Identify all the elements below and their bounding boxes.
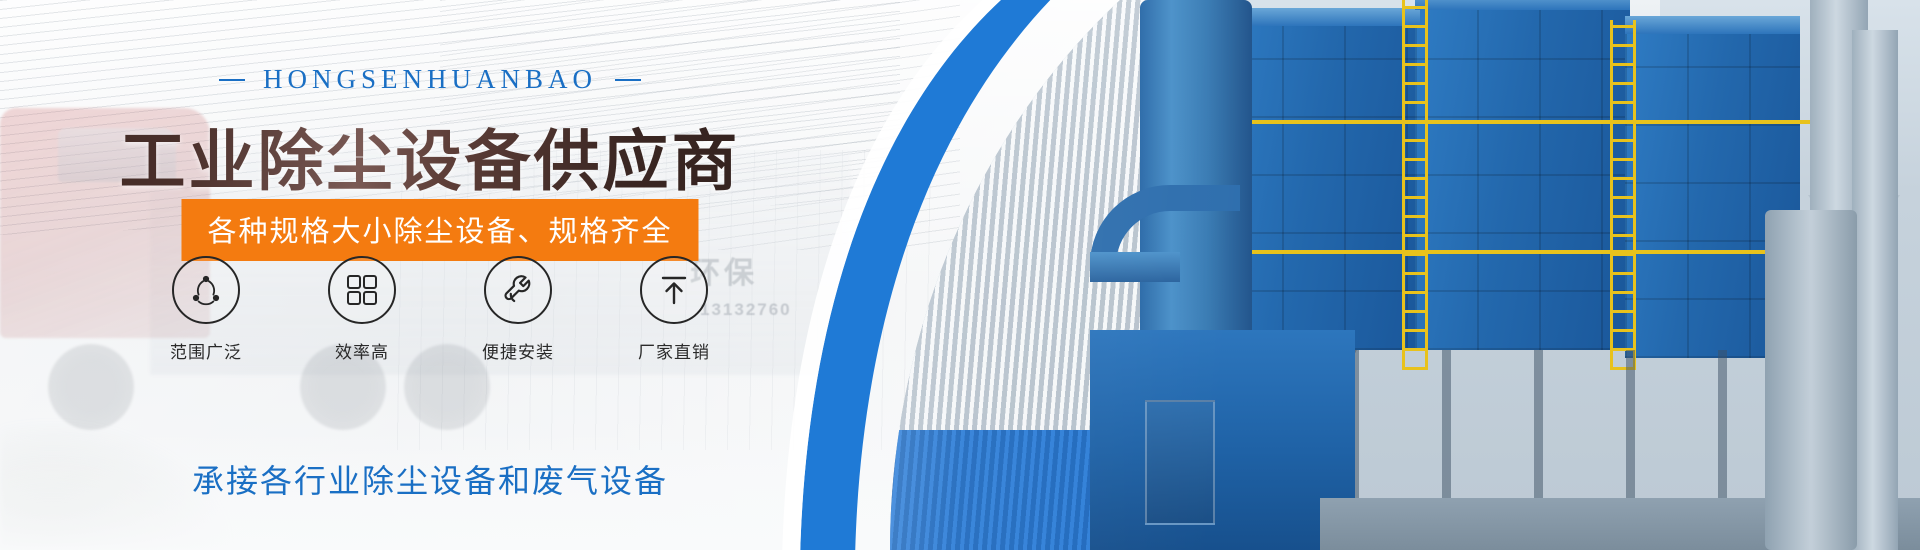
hero-banner: 环保 13132760 [0,0,1920,550]
feature-item-factory-direct[interactable]: 厂家直销 [619,256,729,363]
eyebrow-dash-right [615,79,641,81]
up-arrow-bar-icon [640,256,708,324]
feature-label: 范围广泛 [151,338,261,363]
feature-list: 范围广泛 效率高 [151,256,729,363]
feature-item-installation[interactable]: 便捷安装 [463,256,573,363]
feature-label: 厂家直销 [619,338,729,363]
brand-eyebrow: HONGSENHUANBAO [0,64,860,95]
banner-content: HONGSENHUANBAO 工业除尘设备供应商 各种规格大小除尘设备、规格齐全 [0,0,880,550]
feature-item-scope[interactable]: 范围广泛 [151,256,261,363]
feature-item-efficiency[interactable]: 效率高 [307,256,417,363]
feature-label: 便捷安装 [463,338,573,363]
grid-squares-icon [328,256,396,324]
feature-label: 效率高 [307,338,417,363]
banner-subheadline-bar: 各种规格大小除尘设备、规格齐全 [181,199,698,261]
wrench-icon [484,256,552,324]
network-nodes-icon [172,256,240,324]
banner-tagline: 承接各行业除尘设备和废气设备 [0,456,860,502]
eyebrow-text: HONGSENHUANBAO [263,64,597,95]
banner-headline: 工业除尘设备供应商 [0,108,860,204]
eyebrow-dash-left [219,79,245,81]
